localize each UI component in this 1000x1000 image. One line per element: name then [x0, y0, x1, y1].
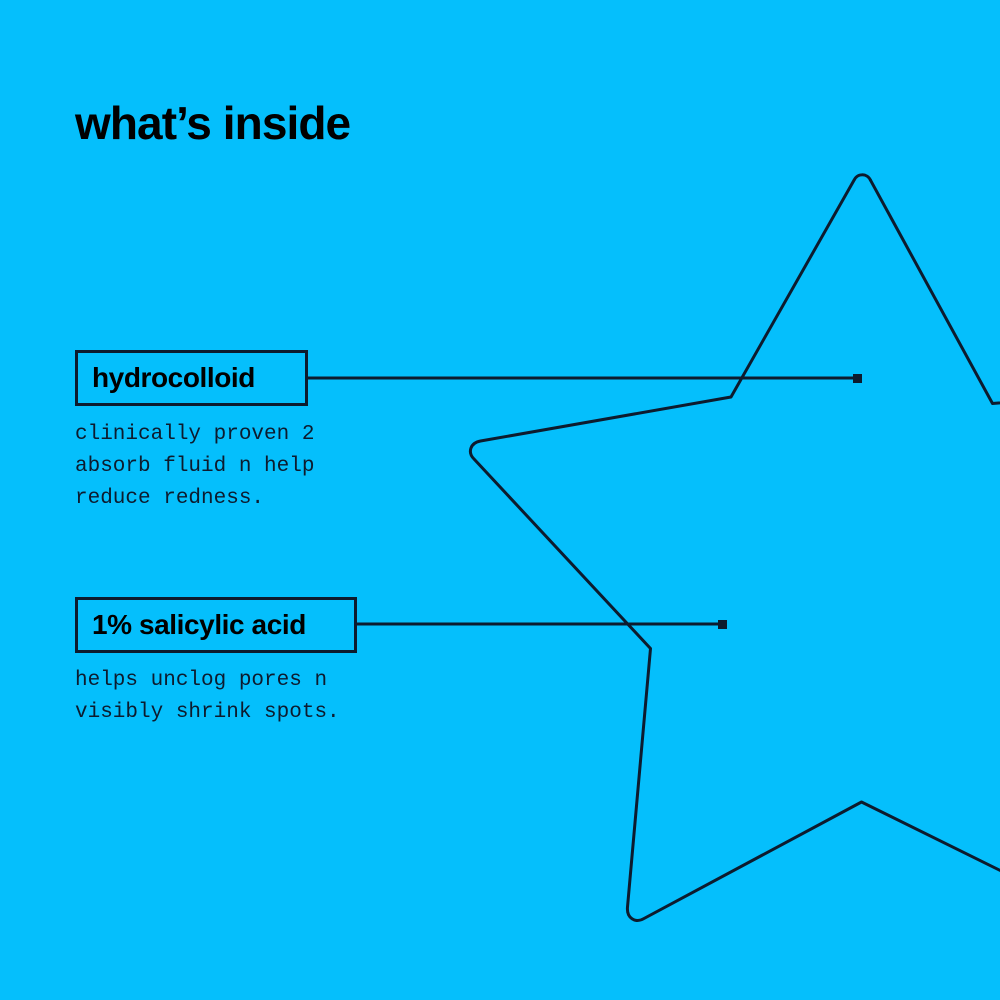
poster-canvas: what’s inside hydrocolloid clinically pr…	[0, 0, 1000, 1000]
leader-endpoint-marker-salicylic	[718, 620, 727, 629]
callout-description-salicylic: helps unclog pores n visibly shrink spot…	[75, 665, 340, 729]
callout-description-hydrocolloid: clinically proven 2 absorb fluid n help …	[75, 419, 314, 515]
leader-endpoint-marker-hydrocolloid	[853, 374, 862, 383]
page-title: what’s inside	[75, 100, 350, 146]
callout-label-box-salicylic[interactable]: 1% salicylic acid	[75, 597, 357, 653]
callout-label-text-hydrocolloid: hydrocolloid	[92, 364, 255, 392]
callout-label-text-salicylic: 1% salicylic acid	[92, 611, 306, 639]
star-outline-stroke-right	[871, 180, 1000, 403]
callout-label-box-hydrocolloid[interactable]: hydrocolloid	[75, 350, 308, 406]
star-outline-stroke-left	[470, 175, 1000, 921]
